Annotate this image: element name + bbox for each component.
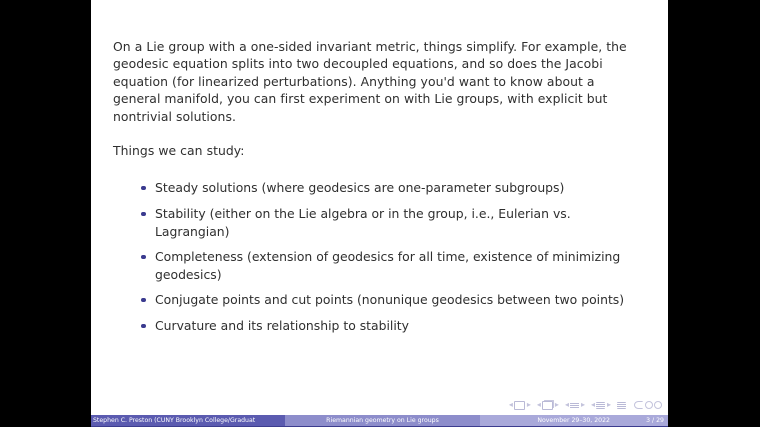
list-item-label: Steady solutions (where geodesics are on… — [155, 180, 564, 195]
search-circle-icon[interactable] — [654, 401, 662, 409]
nav-group-slide[interactable]: ◂ ▸ — [509, 401, 531, 410]
intro-paragraph: On a Lie group with a one-sided invarian… — [113, 38, 639, 125]
bullet-dot-icon — [141, 186, 146, 191]
nav-group-search[interactable] — [634, 401, 662, 409]
slide-page-icon[interactable] — [514, 401, 525, 410]
subsection-next-arrow-icon[interactable]: ▸ — [581, 401, 585, 409]
list-item-label: Stability (either on the Lie algebra or … — [155, 206, 571, 239]
list-item: Conjugate points and cut points (nonuniq… — [141, 291, 649, 309]
study-bullet-list: Steady solutions (where geodesics are on… — [141, 179, 649, 334]
section-prev-arrow-icon[interactable]: ◂ — [591, 401, 595, 409]
section-next-arrow-icon[interactable]: ▸ — [607, 401, 611, 409]
bullet-dot-icon — [141, 212, 146, 217]
list-item-label: Curvature and its relationship to stabil… — [155, 318, 409, 333]
footer-page-number: 3 / 29 — [626, 415, 668, 426]
section-lines-icon[interactable] — [596, 402, 605, 409]
list-item: Steady solutions (where geodesics are on… — [141, 179, 649, 197]
footer-title: Riemannian geometry on Lie groups — [285, 415, 480, 426]
slide-content: On a Lie group with a one-sided invarian… — [113, 38, 648, 335]
list-item-label: Completeness (extension of geodesics for… — [155, 249, 620, 282]
list-item: Completeness (extension of geodesics for… — [141, 248, 649, 283]
study-lead-text: Things we can study: — [113, 142, 648, 159]
list-item: Stability (either on the Lie algebra or … — [141, 205, 649, 240]
nav-group-section[interactable]: ◂ ▸ — [591, 401, 611, 409]
subsection-lines-icon[interactable] — [570, 402, 579, 409]
back-icon[interactable] — [634, 401, 643, 409]
bullet-dot-icon — [141, 255, 146, 260]
bullet-dot-icon — [141, 298, 146, 303]
document-icon[interactable] — [617, 402, 626, 409]
frame-stack-icon[interactable] — [542, 401, 553, 410]
find-circle-icon[interactable] — [645, 401, 653, 409]
frame-prev-arrow-icon[interactable]: ◂ — [537, 401, 541, 409]
subsection-prev-arrow-icon[interactable]: ◂ — [565, 401, 569, 409]
footer-date: November 29–30, 2022 — [480, 415, 626, 426]
list-item-label: Conjugate points and cut points (nonuniq… — [155, 292, 624, 307]
slide-next-arrow-icon[interactable]: ▸ — [527, 401, 531, 409]
list-item: Curvature and its relationship to stabil… — [141, 317, 649, 335]
footer-bar: Stephen C. Preston (CUNY Brooklyn Colleg… — [91, 415, 668, 426]
slide-prev-arrow-icon[interactable]: ◂ — [509, 401, 513, 409]
nav-group-subsection[interactable]: ◂ ▸ — [565, 401, 585, 409]
beamer-navigation-bar[interactable]: ◂ ▸ ◂ ▸ ◂ ▸ ◂ ▸ — [509, 399, 662, 411]
frame-next-arrow-icon[interactable]: ▸ — [555, 401, 559, 409]
bullet-dot-icon — [141, 324, 146, 329]
footer-author: Stephen C. Preston (CUNY Brooklyn Colleg… — [91, 415, 285, 426]
slide-canvas: On a Lie group with a one-sided invarian… — [91, 0, 668, 427]
screen-backdrop: On a Lie group with a one-sided invarian… — [0, 0, 760, 427]
nav-group-frame[interactable]: ◂ ▸ — [537, 401, 559, 410]
